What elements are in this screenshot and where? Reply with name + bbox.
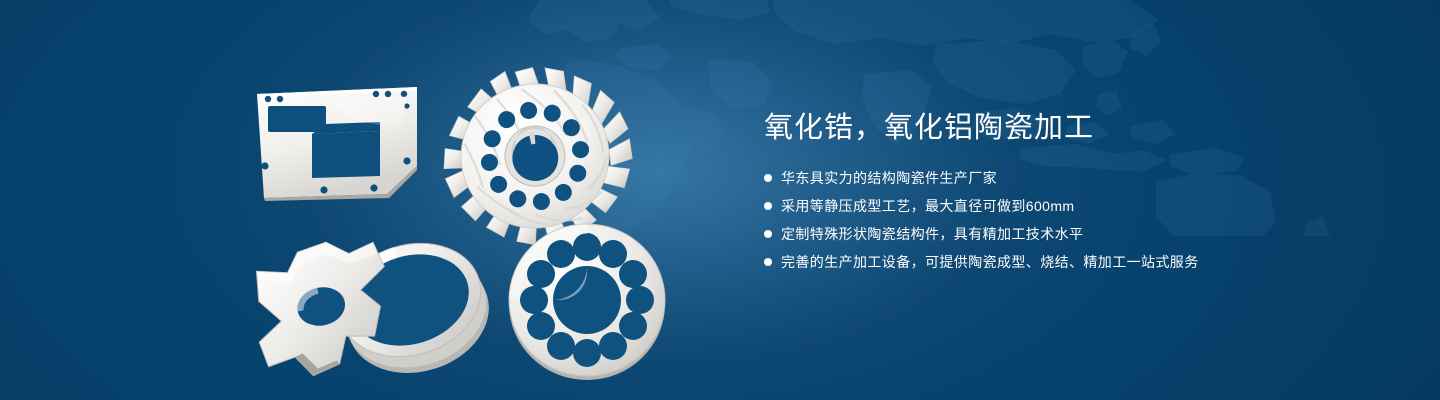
copy-block: 氧化锆，氧化铝陶瓷加工 华东具实力的结构陶瓷件生产厂家 采用等静压成型工艺，最大… — [764, 110, 1384, 272]
list-item: 采用等静压成型工艺，最大直径可做到600mm — [764, 196, 1384, 216]
list-item-label: 定制特殊形状陶瓷结构件，具有精加工技术水平 — [781, 224, 1083, 244]
list-item: 华东具实力的结构陶瓷件生产厂家 — [764, 168, 1384, 188]
bullet-dot-icon — [764, 174, 772, 182]
ceramic-impeller — [432, 55, 643, 255]
list-item-label: 完善的生产加工设备，可提供陶瓷成型、烧结、精加工一站式服务 — [781, 252, 1199, 272]
list-item-label: 华东具实力的结构陶瓷件生产厂家 — [781, 168, 997, 188]
bullet-dot-icon — [764, 258, 772, 266]
feature-list: 华东具实力的结构陶瓷件生产厂家 采用等静压成型工艺，最大直径可做到600mm 定… — [764, 168, 1384, 272]
page-title: 氧化锆，氧化铝陶瓷加工 — [764, 110, 1384, 146]
ceramic-plate — [257, 87, 417, 201]
list-item: 完善的生产加工设备，可提供陶瓷成型、烧结、精加工一站式服务 — [764, 252, 1384, 272]
ceramic-perforated-disc — [509, 224, 665, 380]
product-photo-group — [232, 38, 682, 383]
list-item-label: 采用等静压成型工艺，最大直径可做到600mm — [781, 196, 1074, 216]
list-item: 定制特殊形状陶瓷结构件，具有精加工技术水平 — [764, 224, 1384, 244]
bullet-dot-icon — [764, 230, 772, 238]
bullet-dot-icon — [764, 202, 772, 210]
hero-banner: 氧化锆，氧化铝陶瓷加工 华东具实力的结构陶瓷件生产厂家 采用等静压成型工艺，最大… — [0, 0, 1440, 400]
